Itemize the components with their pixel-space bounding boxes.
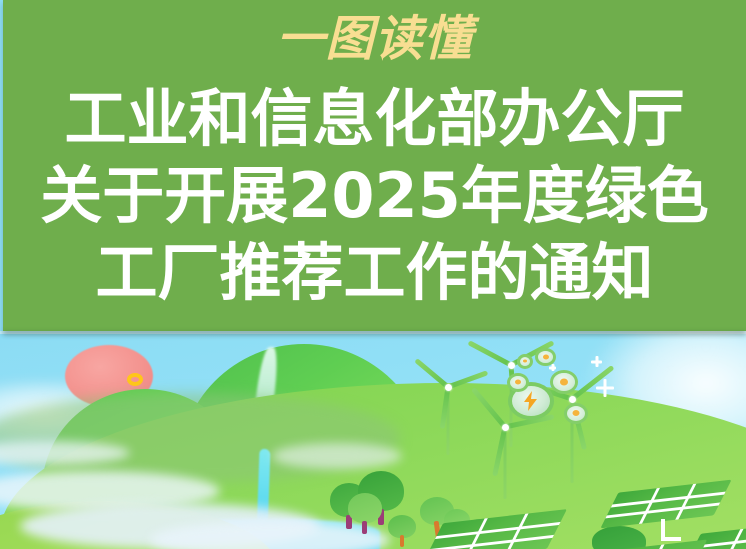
panel-grid-line [673,480,698,523]
panel-base [661,537,681,541]
kicker-text: 一图读懂 [3,8,746,70]
mist-band [272,443,402,469]
title-line-1: 工业和信息化部办公厅 [3,80,746,157]
panel-grid-line [637,484,662,527]
eco-bubble-icon [538,351,553,363]
sparkle-icon [549,364,556,371]
solar-panel-face [600,480,731,529]
sparkle-icon [591,356,602,367]
sparkle-icon [596,379,614,397]
solar-panel-icon [437,516,567,549]
page-title: 工业和信息化部办公厅 关于开展2025年度绿色 工厂推荐工作的通知 [3,80,746,311]
eco-bubble-icon [553,373,575,391]
bubble-dot [523,360,527,363]
tree-canopy [348,493,382,523]
wind-turbine-icon [504,427,506,428]
bubble-dot [573,410,580,416]
wind-turbine-icon [510,365,512,366]
panel-grid-line [719,525,745,549]
eco-bubble-icon [510,376,526,389]
eco-bubble-icon [567,406,585,421]
title-line-3: 工厂推荐工作的通知 [3,234,746,311]
wind-turbine-icon [447,387,449,388]
energy-bolt-badge-icon [512,386,550,416]
wind-turbine-icon [571,399,573,400]
illustration-scene [0,331,746,549]
title-line-2: 关于开展2025年度绿色 [3,157,746,234]
bubble-dot [515,380,521,385]
infographic-poster: 一图读懂 工业和信息化部办公厅 关于开展2025年度绿色 工厂推荐工作的通知 [0,0,746,549]
solar-panel-face [423,509,567,549]
turbine-hub [502,424,509,431]
eco-bubble-icon [520,357,530,366]
tree-trunk [400,535,404,547]
turbine-hub [569,396,576,403]
bubble-dot [543,354,549,359]
bubble-dot [560,378,568,385]
tree-trunk [362,521,367,534]
header-panel: 一图读懂 工业和信息化部办公厅 关于开展2025年度绿色 工厂推荐工作的通知 [3,0,746,331]
turbine-hub [445,384,452,391]
turbine-hub [508,362,515,369]
yellow-ring-icon [127,373,143,386]
